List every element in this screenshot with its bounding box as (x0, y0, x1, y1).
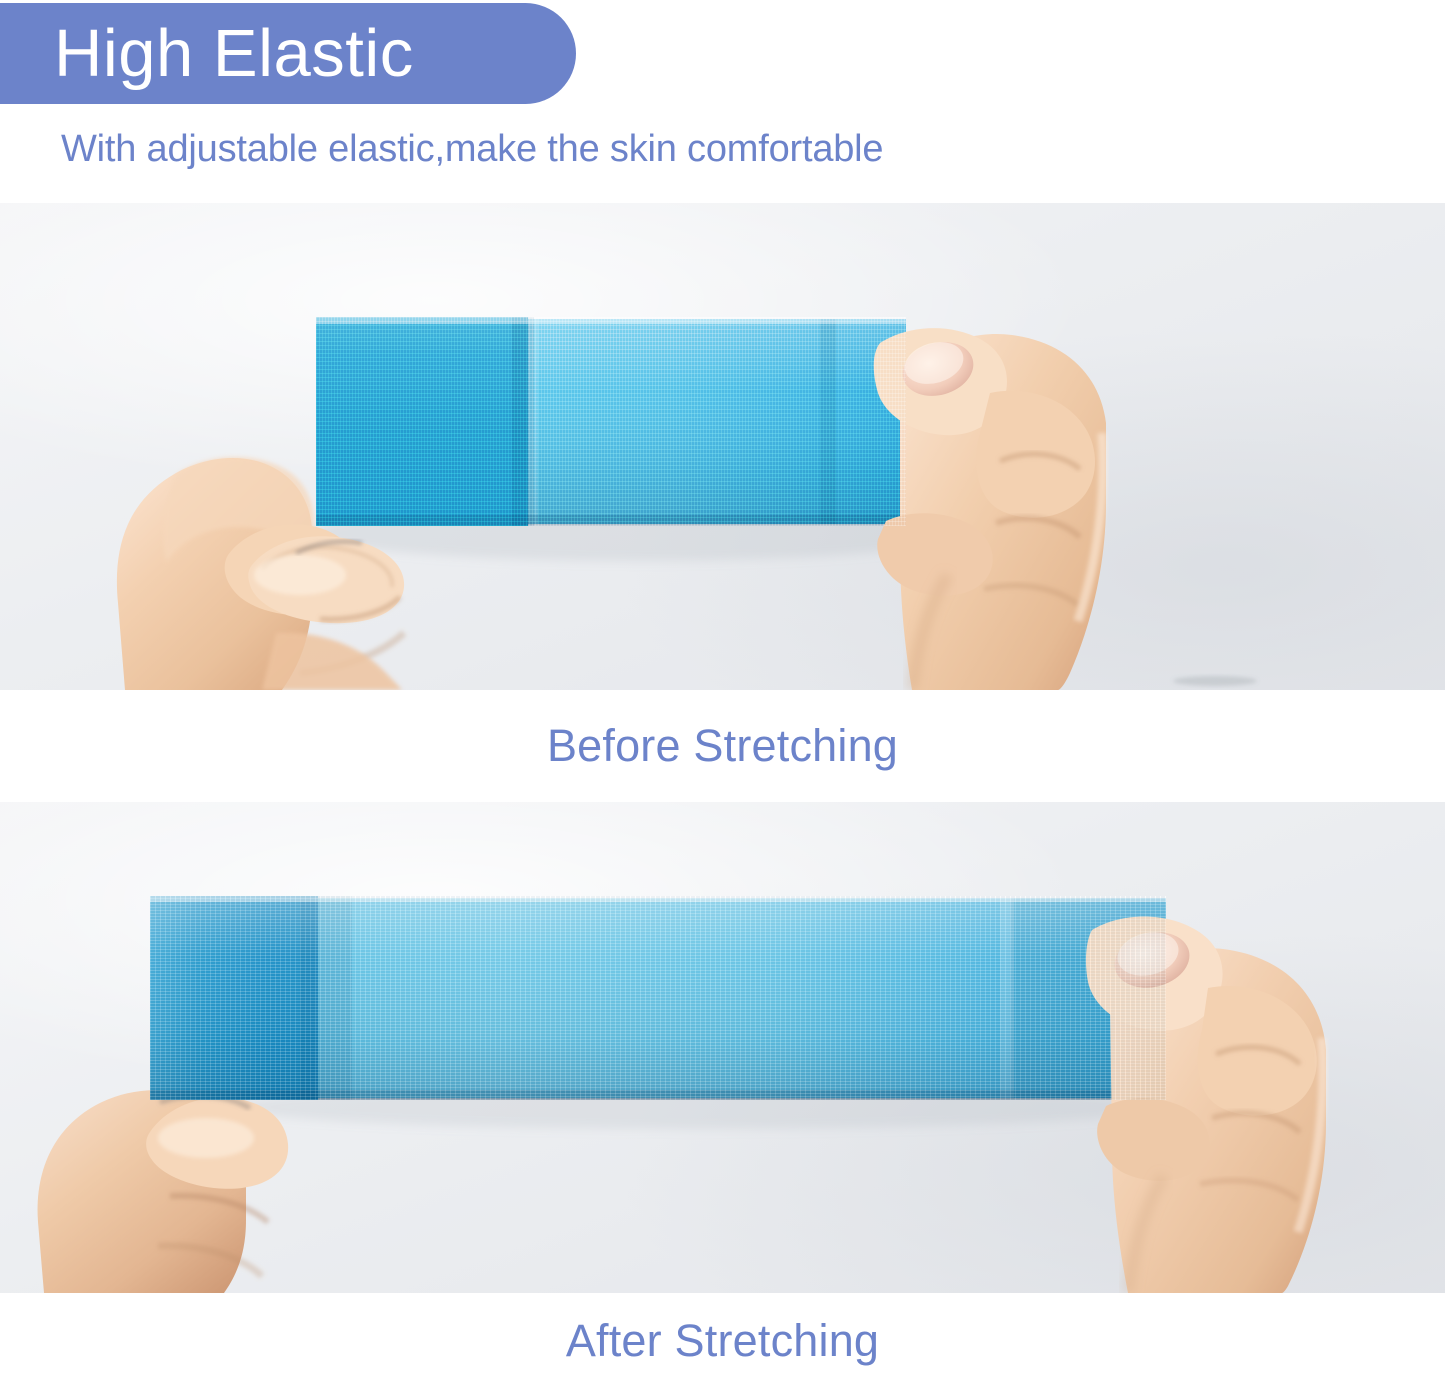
title-badge: High Elastic (0, 3, 576, 104)
caption-before-label: Before Stretching (547, 720, 898, 771)
caption-before-stretching: Before Stretching (0, 690, 1445, 802)
caption-after-stretching: After Stretching (0, 1293, 1445, 1379)
bandage-weave-overlay-after (150, 896, 1166, 1100)
bandage-weave-overlay-before (316, 317, 906, 526)
left-hand-after (38, 1090, 289, 1293)
right-hand-before (874, 328, 1106, 690)
subtitle-text: With adjustable elastic,make the skin co… (61, 128, 883, 171)
page-title: High Elastic (54, 20, 414, 87)
header: High Elastic With adjustable elastic,mak… (0, 0, 1445, 203)
caption-after-label: After Stretching (566, 1315, 879, 1366)
photo-panel-before-stretching (0, 203, 1445, 690)
photo-panel-after-stretching (0, 802, 1445, 1293)
